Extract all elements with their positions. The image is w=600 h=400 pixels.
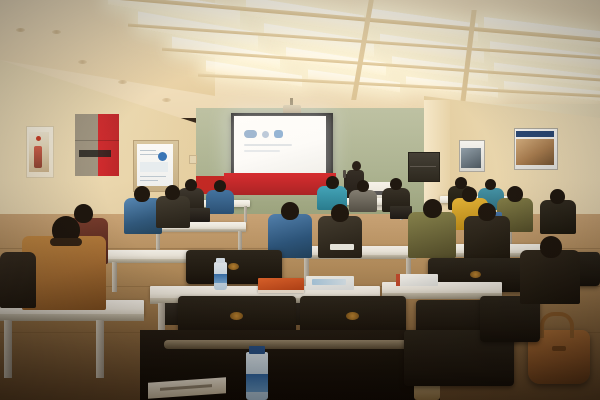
framed-poster-left-figure bbox=[34, 146, 42, 168]
attendee-grey-jacket bbox=[349, 190, 377, 212]
attendee-blue-puffer bbox=[206, 190, 234, 214]
desk-edge bbox=[0, 314, 144, 321]
attendee-head bbox=[390, 178, 402, 190]
desk-leg bbox=[96, 320, 104, 378]
water-bottle-label bbox=[246, 374, 268, 392]
attendee-head bbox=[74, 204, 93, 223]
attendee-collar bbox=[50, 238, 82, 246]
desk-leg bbox=[244, 206, 247, 222]
notice-board bbox=[137, 144, 173, 186]
attendee-head bbox=[326, 176, 339, 189]
handout-accent bbox=[396, 274, 400, 286]
attendee-head bbox=[165, 185, 180, 200]
presenter-head bbox=[352, 161, 361, 171]
desk-foreground-handle bbox=[164, 340, 414, 349]
attendee-head bbox=[331, 204, 349, 222]
desk-edge bbox=[150, 229, 246, 232]
microphone bbox=[343, 170, 346, 178]
attendee-head bbox=[540, 236, 562, 258]
attendee-head bbox=[185, 179, 197, 191]
downlight bbox=[162, 98, 171, 102]
attendee-dark-coat bbox=[540, 200, 576, 234]
av-cabinet bbox=[408, 152, 440, 182]
attendee-head bbox=[357, 180, 369, 192]
framed-poster-left-accent bbox=[36, 136, 41, 141]
attendee-head bbox=[134, 186, 150, 202]
attendee-dark-coat bbox=[520, 250, 580, 304]
attendee-head bbox=[462, 187, 477, 202]
brand-wall-panel-divider bbox=[75, 140, 119, 141]
slide-text-line bbox=[244, 150, 280, 152]
water-bottle-cap bbox=[249, 346, 265, 354]
projection-screen bbox=[234, 116, 326, 175]
notice-board-badge bbox=[158, 152, 167, 161]
attendee-olive-jacket bbox=[408, 212, 456, 258]
slide-text-line bbox=[244, 144, 292, 146]
attendee-dark-coat bbox=[464, 216, 510, 262]
handout-papers bbox=[330, 244, 354, 250]
attendee-dark-coat bbox=[0, 252, 36, 308]
slide-graphic bbox=[262, 131, 269, 138]
water-bottle-cap bbox=[216, 258, 225, 263]
downlight bbox=[118, 80, 127, 84]
chair-badge bbox=[230, 312, 243, 320]
desk-leg bbox=[4, 320, 12, 378]
downlight bbox=[78, 60, 87, 64]
photograph-scene: Seminar room training session Interior p… bbox=[0, 0, 600, 400]
attendee-dark-coat bbox=[318, 216, 362, 258]
slide-graphic bbox=[274, 130, 283, 138]
attendee-head bbox=[485, 179, 496, 190]
chair-badge bbox=[228, 263, 239, 270]
wall-switch[interactable] bbox=[189, 155, 197, 164]
leather-bag-clasp bbox=[552, 346, 566, 351]
framed-poster-right-far-image bbox=[516, 139, 554, 165]
attendee-head bbox=[507, 186, 523, 202]
orange-notebook-edge bbox=[258, 290, 304, 293]
brand-wall-panel bbox=[75, 114, 119, 176]
attendee-head bbox=[550, 189, 565, 204]
slide-graphic bbox=[244, 130, 257, 138]
handout-graphic bbox=[312, 279, 346, 285]
chair-badge bbox=[346, 312, 359, 320]
desk-leg bbox=[112, 262, 117, 292]
attendee-head bbox=[214, 180, 226, 192]
attendee-head bbox=[478, 203, 496, 221]
attendee-head bbox=[281, 202, 299, 220]
downlight bbox=[16, 28, 25, 32]
chair-badge bbox=[470, 271, 481, 278]
attendee-head bbox=[423, 199, 442, 218]
av-cabinet-shelf bbox=[410, 166, 436, 167]
brand-wall-panel-wordmark bbox=[79, 150, 111, 157]
framed-poster-right-far-header bbox=[516, 131, 554, 137]
handout-papers bbox=[396, 274, 438, 286]
leather-bag-handle bbox=[540, 312, 574, 338]
framed-poster-right-near-image bbox=[461, 148, 481, 168]
downlight bbox=[52, 30, 61, 34]
attendee-dark-coat bbox=[156, 196, 190, 228]
water-bottle-label bbox=[214, 274, 227, 283]
